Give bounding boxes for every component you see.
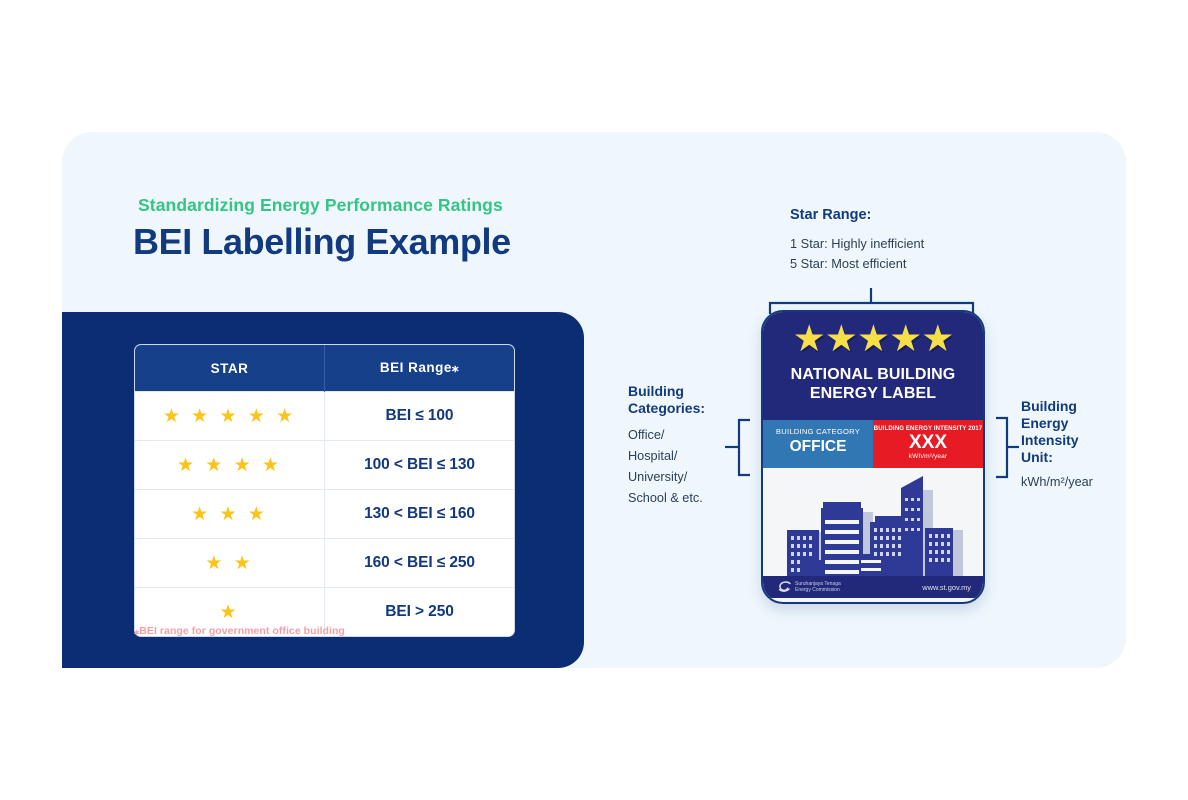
building-categories-title: Building Categories: — [628, 383, 738, 417]
bei-range-cell: BEI > 250 — [325, 588, 515, 637]
energy-label-bands: BUILDING CATEGORY OFFICE BUILDING ENERGY… — [763, 420, 983, 468]
building-categories-annotation: Building Categories: Office/ Hospital/ U… — [628, 383, 738, 509]
energy-intensity-band: BUILDING ENERGY INTENSITY 2017 XXX kWh/m… — [873, 420, 983, 468]
table-card: STAR BEI Range⁎ ★ ★ ★ ★ ★ BEI ≤ 100 ★ ★ … — [62, 312, 584, 668]
bei-range-cell: 130 < BEI ≤ 160 — [325, 490, 515, 539]
star-rating-cell: ★ ★ ★ — [135, 490, 325, 539]
star-glyphs: ★ ★ ★ ★ ★ — [163, 406, 296, 427]
table-header-row: STAR BEI Range⁎ — [135, 345, 514, 392]
bei-range-cell: BEI ≤ 100 — [325, 392, 515, 441]
building-category-item: Hospital/ — [628, 446, 738, 467]
logo-line-2: Energy Commission — [795, 587, 841, 593]
building-category-item: Office/ — [628, 425, 738, 446]
energy-label-stars: ★★★★★ — [763, 320, 983, 357]
bei-table-wrapper: STAR BEI Range⁎ ★ ★ ★ ★ ★ BEI ≤ 100 ★ ★ … — [134, 344, 515, 637]
building-categories-title-line-1: Building — [628, 383, 738, 400]
energy-label-title-line-1: NATIONAL BUILDING — [763, 365, 983, 384]
building-category-item: School & etc. — [628, 488, 738, 509]
star-range-annotation: Star Range: 1 Star: Highly inefficient 5… — [790, 207, 1010, 274]
building-category-band: BUILDING CATEGORY OFFICE — [763, 420, 873, 468]
building-category-caption: BUILDING CATEGORY — [763, 427, 873, 436]
energy-intensity-caption: BUILDING ENERGY INTENSITY 2017 — [873, 425, 983, 432]
star-rating-cell: ★ ★ ★ ★ ★ — [135, 392, 325, 441]
bei-range-cell: 100 < BEI ≤ 130 — [325, 441, 515, 490]
column-header-star: STAR — [135, 345, 325, 392]
star-rating-cell: ★ ★ — [135, 539, 325, 588]
star-range-title: Star Range: — [790, 207, 1010, 223]
energy-unit-title-line-4: Unit: — [1021, 449, 1141, 466]
table-row: ★ ★ 160 < BEI ≤ 250 — [135, 539, 514, 588]
energy-intensity-unit: kWh/m²/year — [873, 453, 983, 460]
energy-intensity-value: XXX — [873, 433, 983, 453]
energy-unit-title-line-2: Energy — [1021, 415, 1141, 432]
star-glyphs: ★ — [219, 602, 239, 623]
building-categories-title-line-2: Categories: — [628, 400, 738, 417]
table-footnote: ⁎BEI range for government office buildin… — [134, 625, 345, 637]
city-skyline-illustration: Suruhanjaya Tenaga Energy Commission www… — [763, 468, 983, 598]
energy-label-title-line-2: ENERGY LABEL — [763, 384, 983, 403]
star-rating-cell: ★ ★ ★ ★ — [135, 441, 325, 490]
star-glyphs: ★ ★ ★ ★ — [177, 455, 282, 476]
table-row: ★ ★ ★ 130 < BEI ≤ 160 — [135, 490, 514, 539]
star-range-line-1: 1 Star: Highly inefficient — [790, 234, 1010, 254]
star-glyphs: ★ ★ — [205, 553, 253, 574]
star-glyphs: ★★★★★ — [793, 318, 954, 359]
energy-unit-title: Building Energy Intensity Unit: — [1021, 398, 1141, 466]
energy-commission-logo-icon — [778, 580, 792, 594]
page-title: BEI Labelling Example — [133, 221, 511, 263]
star-range-line-2: 5 Star: Most efficient — [790, 254, 1010, 274]
energy-commission-logo-text: Suruhanjaya Tenaga Energy Commission — [795, 581, 841, 593]
table-row: ★ ★ ★ ★ 100 < BEI ≤ 130 — [135, 441, 514, 490]
building-category-value: OFFICE — [763, 438, 873, 456]
energy-label-card: ★★★★★ NATIONAL BUILDING ENERGY LABEL BUI… — [761, 310, 985, 604]
energy-label-header: ★★★★★ NATIONAL BUILDING ENERGY LABEL — [763, 312, 983, 420]
energy-unit-title-line-1: Building — [1021, 398, 1141, 415]
energy-unit-annotation: Building Energy Intensity Unit: kWh/m²/y… — [1021, 398, 1141, 489]
table-row: ★ ★ ★ ★ ★ BEI ≤ 100 — [135, 392, 514, 441]
energy-unit-title-line-3: Intensity — [1021, 432, 1141, 449]
building-category-item: University/ — [628, 467, 738, 488]
energy-label-title: NATIONAL BUILDING ENERGY LABEL — [763, 365, 983, 403]
bei-table: STAR BEI Range⁎ ★ ★ ★ ★ ★ BEI ≤ 100 ★ ★ … — [135, 345, 514, 636]
bei-range-cell: 160 < BEI ≤ 250 — [325, 539, 515, 588]
column-header-bei-range: BEI Range⁎ — [325, 345, 515, 392]
star-glyphs: ★ ★ ★ — [191, 504, 268, 525]
eyebrow-text: Standardizing Energy Performance Ratings — [138, 195, 503, 216]
website-url: www.st.gov.my — [922, 583, 971, 592]
energy-unit-value: kWh/m²/year — [1021, 475, 1141, 489]
